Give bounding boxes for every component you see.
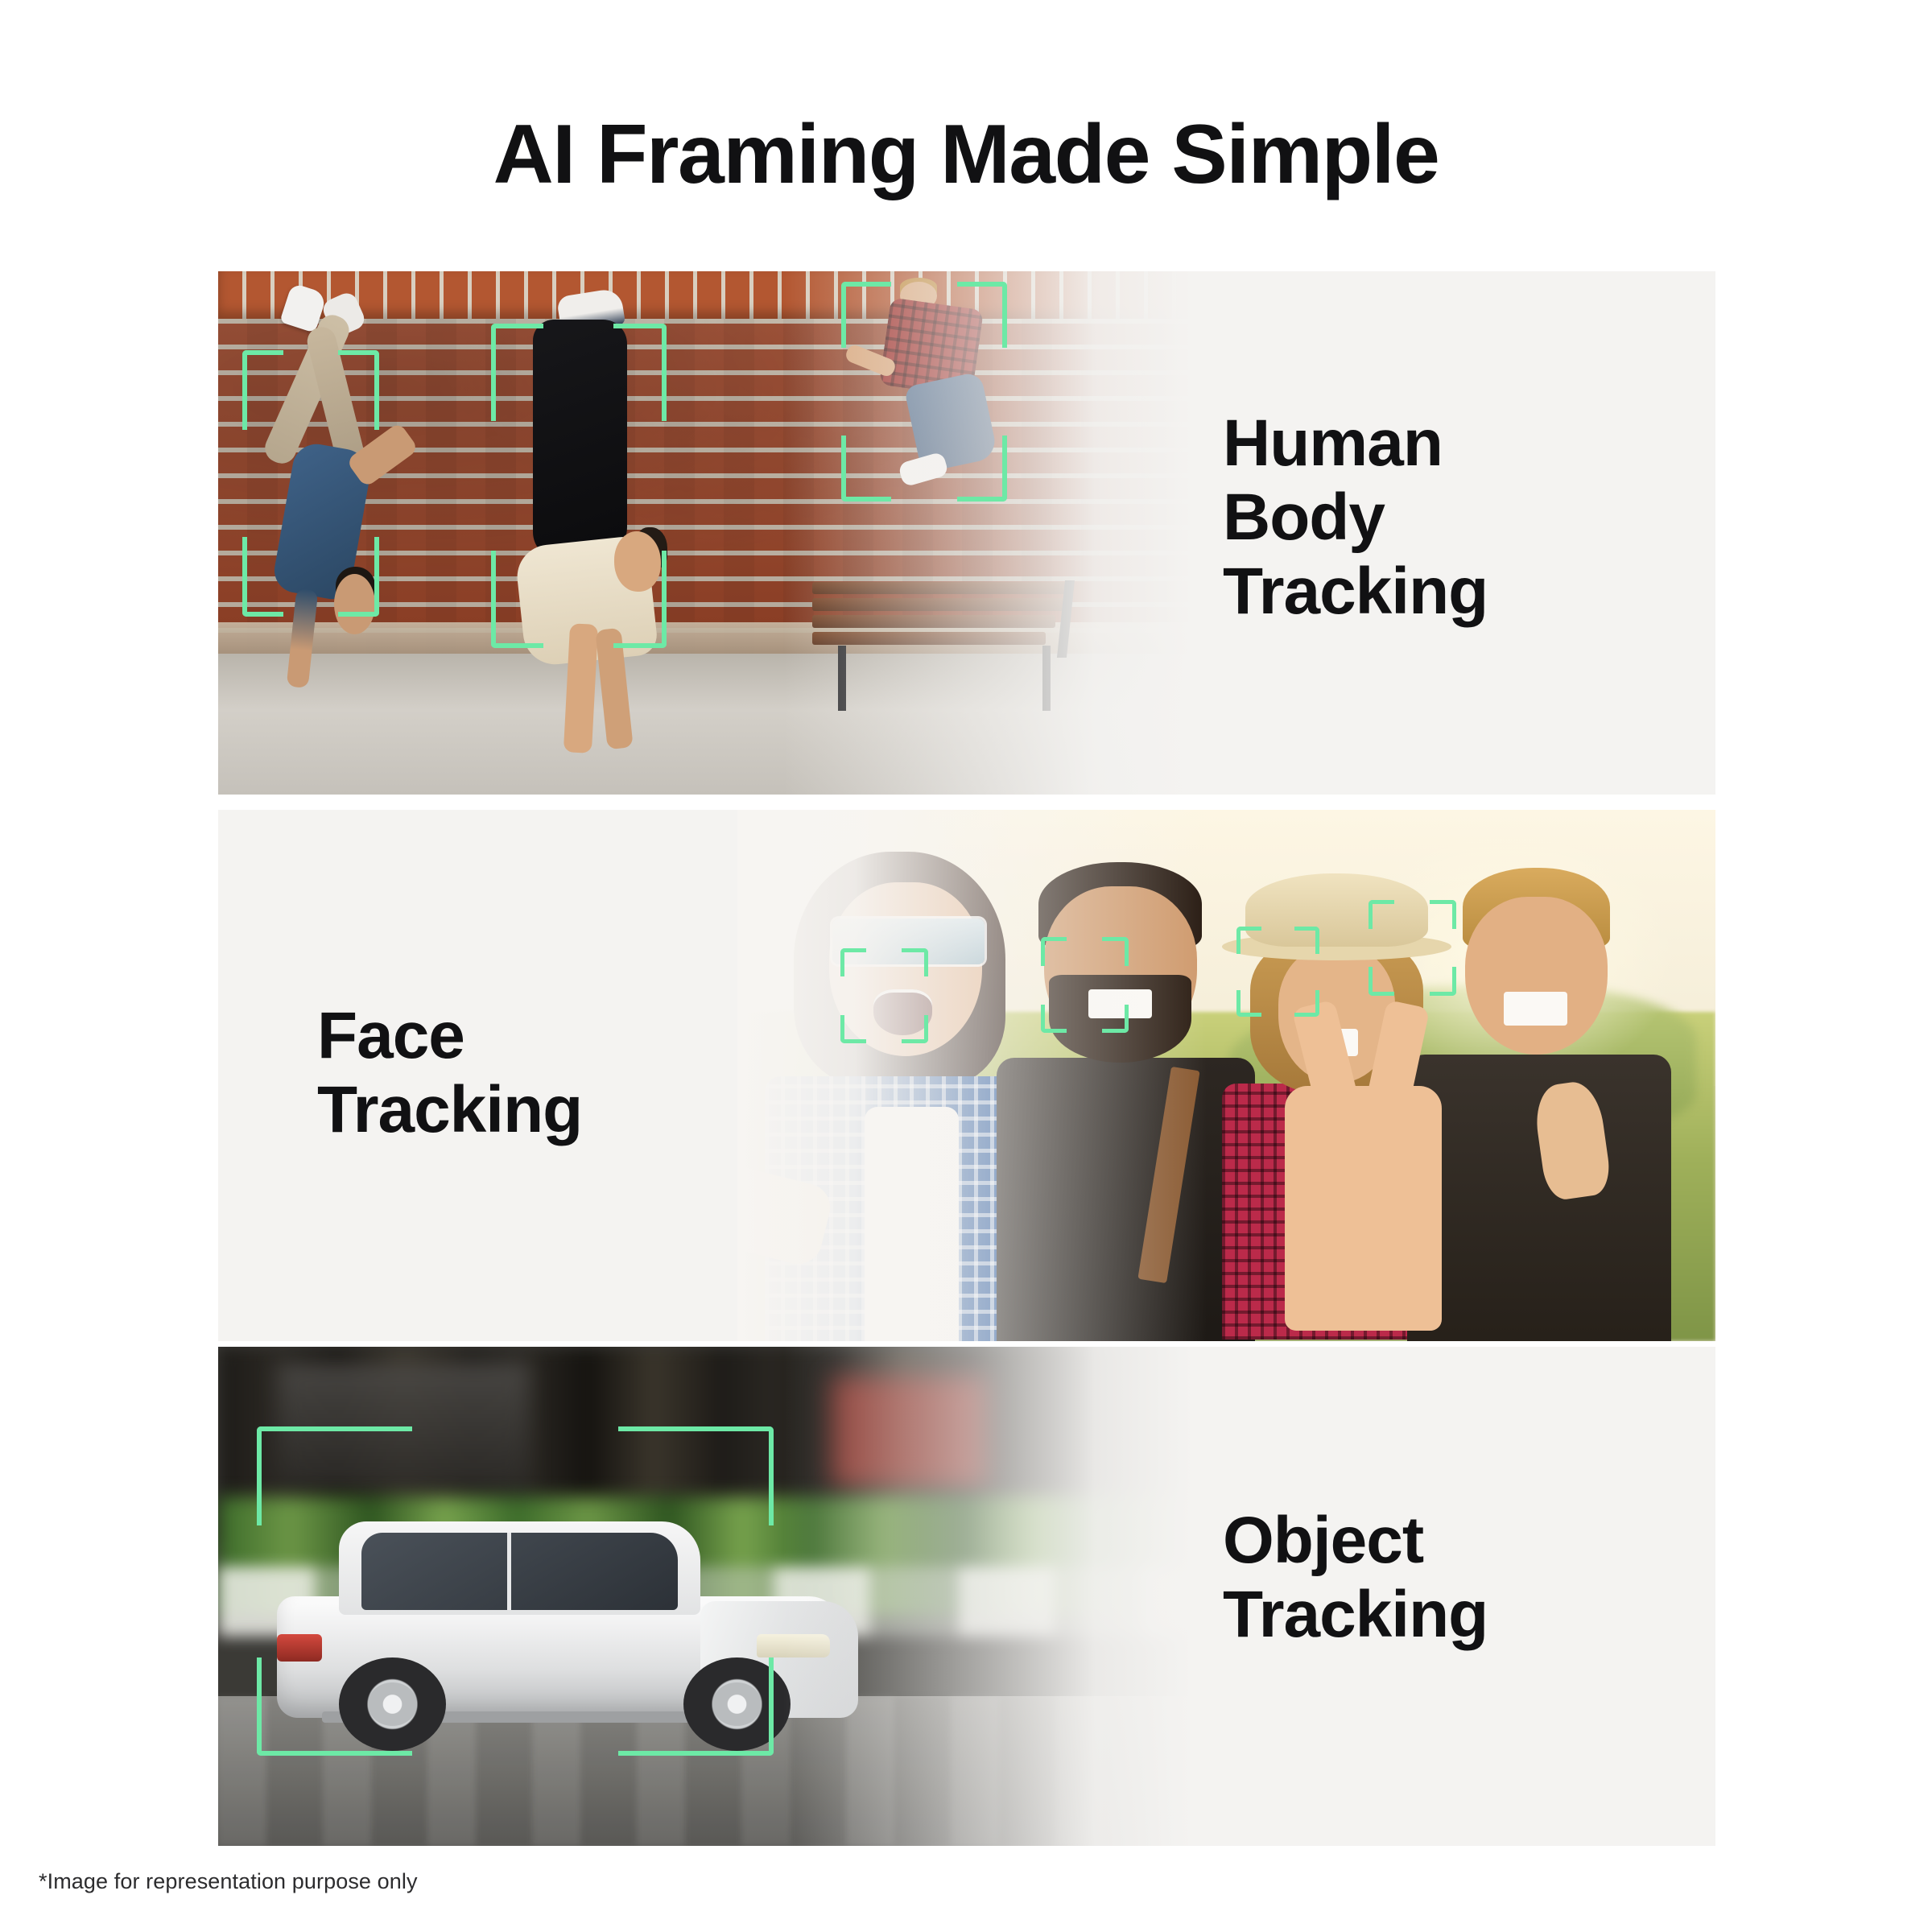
ai-framing-infographic: AI Framing Made Simple	[0, 0, 1932, 1932]
moving-car-scene	[218, 1347, 1192, 1846]
blurred-red-sign	[832, 1377, 988, 1486]
representation-footnote: *Image for representation purpose only	[39, 1869, 418, 1894]
blurred-building	[277, 1362, 530, 1492]
face-tracking-photo	[737, 810, 1715, 1341]
panel-human-body-tracking: Human Body Tracking	[218, 271, 1715, 795]
dancer-right	[841, 282, 1036, 502]
park-bench	[812, 580, 1066, 664]
selfie-scene	[737, 810, 1715, 1341]
dancer-left	[233, 303, 427, 679]
object-tracking-photo	[218, 1347, 1192, 1846]
peace-sign-hand	[1285, 1086, 1441, 1331]
human-body-tracking-photo	[218, 271, 1192, 795]
panel-caption-object-tracking: Object Tracking	[1223, 1504, 1641, 1652]
person-blond-man	[1422, 863, 1677, 1341]
panel-caption-face-tracking: Face Tracking	[317, 999, 736, 1147]
panel-object-tracking: Object Tracking	[218, 1347, 1715, 1846]
panel-face-tracking: Face Tracking	[218, 810, 1715, 1341]
page-title: AI Framing Made Simple	[0, 111, 1932, 199]
dancer-center	[481, 292, 696, 753]
white-sedan-car	[277, 1517, 842, 1751]
panel-caption-human-body-tracking: Human Body Tracking	[1223, 407, 1641, 628]
brick-wall-scene	[218, 271, 1192, 795]
